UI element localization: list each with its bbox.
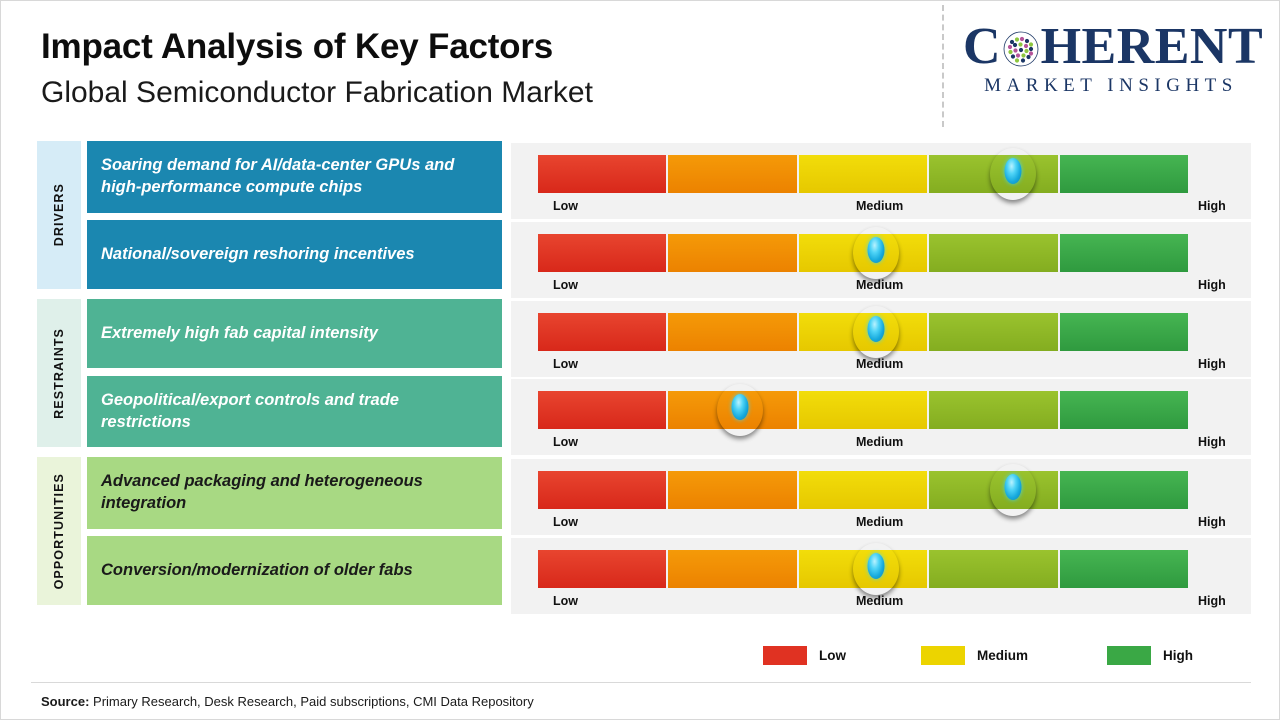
factor-text-1: Soaring demand for AI/data-center GPUs a…: [101, 155, 488, 199]
gauge-segment-1-1: [538, 155, 666, 193]
scale-label-low-3: Low: [553, 357, 578, 371]
scale-label-high-3: High: [1198, 357, 1226, 371]
source-note: Source: Primary Research, Desk Research,…: [41, 694, 534, 709]
legend-item-high: High: [1107, 646, 1193, 665]
gauge-segment-5-5: [1060, 471, 1188, 509]
marker-core-icon: [868, 553, 885, 579]
gauge-segment-2-1: [538, 234, 666, 272]
footer-divider: [31, 682, 1251, 683]
scale-label-medium-5: Medium: [856, 515, 903, 529]
factor-box-4: Geopolitical/export controls and trade r…: [87, 376, 502, 447]
logo-tagline: MARKET INSIGHTS: [963, 75, 1259, 97]
factor-text-5: Advanced packaging and heterogeneous int…: [101, 471, 488, 515]
category-tab-opportunities: OPPORTUNITIES: [37, 457, 81, 605]
gauge-segment-4-5: [1060, 391, 1188, 429]
marker-core-icon: [868, 237, 885, 263]
gauge-panel-5: Low Medium High: [511, 459, 1251, 535]
gauge-panel-1: Low Medium High: [511, 143, 1251, 219]
gauge-segment-2-4: [929, 234, 1057, 272]
page-header: Impact Analysis of Key Factors Global Se…: [1, 1, 1280, 133]
gauge-bar-4: [538, 391, 1188, 429]
scale-label-medium-1: Medium: [856, 199, 903, 213]
impact-marker-5[interactable]: [990, 464, 1036, 516]
legend-swatch-high: [1107, 646, 1151, 665]
legend-label-medium: Medium: [977, 648, 1028, 663]
factor-text-2: National/sovereign reshoring incentives: [101, 244, 415, 266]
scale-label-low-2: Low: [553, 278, 578, 292]
category-tab-restraints: RESTRAINTS: [37, 299, 81, 447]
scale-label-low-1: Low: [553, 199, 578, 213]
gauge-scale-labels-4: Low Medium High: [538, 435, 1238, 453]
gauge-bar-5: [538, 471, 1188, 509]
gauge-segment-6-5: [1060, 550, 1188, 588]
scale-label-medium-2: Medium: [856, 278, 903, 292]
logo-wordmark-rest: HERENT: [1041, 21, 1264, 73]
source-text: Primary Research, Desk Research, Paid su…: [89, 694, 533, 709]
gauge-segment-3-4: [929, 313, 1057, 351]
impact-matrix: DRIVERS RESTRAINTS OPPORTUNITIES Soaring…: [1, 141, 1280, 611]
factor-box-6: Conversion/modernization of older fabs: [87, 536, 502, 605]
scale-label-low-4: Low: [553, 435, 578, 449]
category-tab-drivers: DRIVERS: [37, 141, 81, 289]
gauge-segment-4-3: [799, 391, 927, 429]
infographic-page: Impact Analysis of Key Factors Global Se…: [0, 0, 1280, 720]
scale-label-high-6: High: [1198, 594, 1226, 608]
factor-text-4: Geopolitical/export controls and trade r…: [101, 390, 488, 434]
gauge-segment-4-1: [538, 391, 666, 429]
gauge-segment-5-3: [799, 471, 927, 509]
factor-box-1: Soaring demand for AI/data-center GPUs a…: [87, 141, 502, 213]
source-label: Source:: [41, 694, 89, 709]
scale-label-high-2: High: [1198, 278, 1226, 292]
scale-label-high-1: High: [1198, 199, 1226, 213]
legend-item-medium: Medium: [921, 646, 1028, 665]
page-title: Impact Analysis of Key Factors: [41, 29, 593, 64]
gauge-segment-3-1: [538, 313, 666, 351]
factor-box-5: Advanced packaging and heterogeneous int…: [87, 457, 502, 529]
gauge-segment-5-1: [538, 471, 666, 509]
gauge-segment-6-1: [538, 550, 666, 588]
category-label-restraints: RESTRAINTS: [52, 328, 66, 419]
gauge-segment-2-2: [668, 234, 796, 272]
scale-label-low-5: Low: [553, 515, 578, 529]
gauge-segment-1-3: [799, 155, 927, 193]
gauge-segment-1-2: [668, 155, 796, 193]
gauge-segment-1-5: [1060, 155, 1188, 193]
gauge-panel-4: Low Medium High: [511, 379, 1251, 455]
page-subtitle: Global Semiconductor Fabrication Market: [41, 78, 593, 108]
factor-text-3: Extremely high fab capital intensity: [101, 323, 378, 345]
impact-marker-6[interactable]: [853, 543, 899, 595]
marker-core-icon: [1004, 158, 1021, 184]
legend-swatch-low: [763, 646, 807, 665]
legend-item-low: Low: [763, 646, 846, 665]
legend-label-high: High: [1163, 648, 1193, 663]
scale-label-medium-3: Medium: [856, 357, 903, 371]
globe-dots-icon: [1002, 30, 1040, 68]
title-block: Impact Analysis of Key Factors Global Se…: [41, 29, 593, 108]
factor-text-6: Conversion/modernization of older fabs: [101, 560, 413, 582]
gauge-segment-3-5: [1060, 313, 1188, 351]
factor-box-2: National/sovereign reshoring incentives: [87, 220, 502, 289]
gauge-scale-labels-6: Low Medium High: [538, 594, 1238, 612]
logo-wordmark: C: [963, 23, 1263, 71]
impact-marker-2[interactable]: [853, 227, 899, 279]
brand-logo: C: [963, 23, 1263, 107]
factor-box-3: Extremely high fab capital intensity: [87, 299, 502, 368]
gauge-scale-labels-2: Low Medium High: [538, 278, 1238, 296]
marker-core-icon: [868, 316, 885, 342]
impact-marker-4[interactable]: [717, 384, 763, 436]
gauge-bar-1: [538, 155, 1188, 193]
header-dashed-divider: [942, 5, 944, 127]
gauge-scale-labels-1: Low Medium High: [538, 199, 1238, 217]
gauge-segment-2-5: [1060, 234, 1188, 272]
chart-legend: Low Medium High: [763, 646, 1223, 670]
gauge-scale-labels-3: Low Medium High: [538, 357, 1238, 375]
gauge-panel-6: Low Medium High: [511, 538, 1251, 614]
gauge-scale-labels-5: Low Medium High: [538, 515, 1238, 533]
category-label-drivers: DRIVERS: [52, 183, 66, 246]
gauge-panel-2: Low Medium High: [511, 222, 1251, 298]
gauge-segment-6-4: [929, 550, 1057, 588]
logo-letter-c: C: [963, 21, 1001, 73]
scale-label-high-5: High: [1198, 515, 1226, 529]
gauge-segment-6-2: [668, 550, 796, 588]
scale-label-low-6: Low: [553, 594, 578, 608]
scale-label-medium-4: Medium: [856, 435, 903, 449]
gauge-panel-3: Low Medium High: [511, 301, 1251, 377]
gauge-segment-3-2: [668, 313, 796, 351]
legend-swatch-medium: [921, 646, 965, 665]
gauge-segment-4-4: [929, 391, 1057, 429]
category-label-opportunities: OPPORTUNITIES: [52, 473, 66, 589]
impact-marker-3[interactable]: [853, 306, 899, 358]
gauge-segment-5-2: [668, 471, 796, 509]
scale-label-high-4: High: [1198, 435, 1226, 449]
legend-label-low: Low: [819, 648, 846, 663]
marker-core-icon: [1004, 474, 1021, 500]
impact-marker-1[interactable]: [990, 148, 1036, 200]
scale-label-medium-6: Medium: [856, 594, 903, 608]
marker-core-icon: [731, 394, 748, 420]
